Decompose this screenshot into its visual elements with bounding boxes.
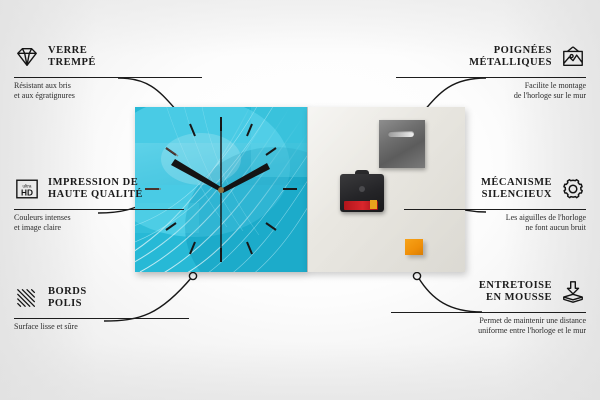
feature-header: POIGNÉES MÉTALLIQUES [396, 40, 586, 74]
feature-title: IMPRESSION DE HAUTE QUALITÉ [48, 177, 143, 202]
feature-title: POIGNÉES MÉTALLIQUES [469, 45, 552, 70]
battery-positive-terminal [370, 200, 377, 209]
feature-bords-polis: BORDS POLIS Surface lisse et sûre [14, 281, 189, 332]
feature-header: BORDS POLIS [14, 281, 189, 315]
feature-header: ENTRETOISE EN MOUSSE [391, 275, 586, 309]
polished-edges-icon [14, 286, 40, 310]
gear-icon [560, 177, 586, 201]
connector-dot-bords-polis [189, 272, 196, 279]
movement-shaft [359, 186, 365, 192]
feature-subtitle: Surface lisse et sûre [14, 322, 189, 332]
feature-mecanisme-silencieux: MÉCANISME SILENCIEUX Les aiguilles de l'… [404, 172, 586, 233]
feature-impression-haute-qualite: ultra HD IMPRESSION DE HAUTE QUALITÉ Cou… [14, 172, 184, 233]
hanging-frame-icon [560, 45, 586, 69]
feature-header: MÉCANISME SILENCIEUX [404, 172, 586, 206]
foam-spacer [405, 239, 423, 255]
quartz-movement-box [340, 170, 384, 212]
feature-subtitle: Les aiguilles de l'horloge ne font aucun… [404, 213, 586, 233]
feature-rule [391, 312, 586, 313]
feature-header: ultra HD IMPRESSION DE HAUTE QUALITÉ [14, 172, 184, 206]
feature-rule [14, 318, 189, 319]
feature-subtitle: Permet de maintenir une distance uniform… [391, 316, 586, 336]
clock-center-cap [218, 187, 224, 193]
svg-text:HD: HD [21, 187, 33, 197]
feature-entretoise-en-mousse: ENTRETOISE EN MOUSSE Permet de maintenir… [391, 275, 586, 336]
feature-title: VERRE TREMPÉ [48, 45, 96, 70]
feature-subtitle: Résistant aux bris et aux égratignures [14, 81, 202, 101]
feature-title: BORDS POLIS [48, 286, 87, 311]
feature-title: ENTRETOISE EN MOUSSE [479, 280, 552, 305]
hanger-keyhole-slot [388, 131, 414, 137]
feature-rule [396, 77, 586, 78]
panel-seam [307, 107, 308, 272]
feature-rule [404, 209, 586, 210]
feature-subtitle: Facilite le montage de l'horloge sur le … [396, 81, 586, 101]
movement-housing [340, 174, 384, 212]
infographic-canvas: VERRE TREMPÉ Résistant aux bris et aux é… [0, 0, 600, 400]
feature-header: VERRE TREMPÉ [14, 40, 202, 74]
feature-subtitle: Couleurs intenses et image claire [14, 213, 184, 233]
metal-hanger-plate [379, 120, 425, 168]
diamond-icon [14, 45, 40, 69]
feature-rule [14, 77, 202, 78]
battery [344, 201, 378, 210]
foam-spacer-icon [560, 280, 586, 304]
feature-title: MÉCANISME SILENCIEUX [481, 177, 552, 202]
feature-rule [14, 209, 184, 210]
ultra-hd-badge-icon: ultra HD [14, 177, 40, 201]
feature-poignees-metalliques: POIGNÉES MÉTALLIQUES Facilite le montage… [396, 40, 586, 101]
feature-verre-trempe: VERRE TREMPÉ Résistant aux bris et aux é… [14, 40, 202, 101]
